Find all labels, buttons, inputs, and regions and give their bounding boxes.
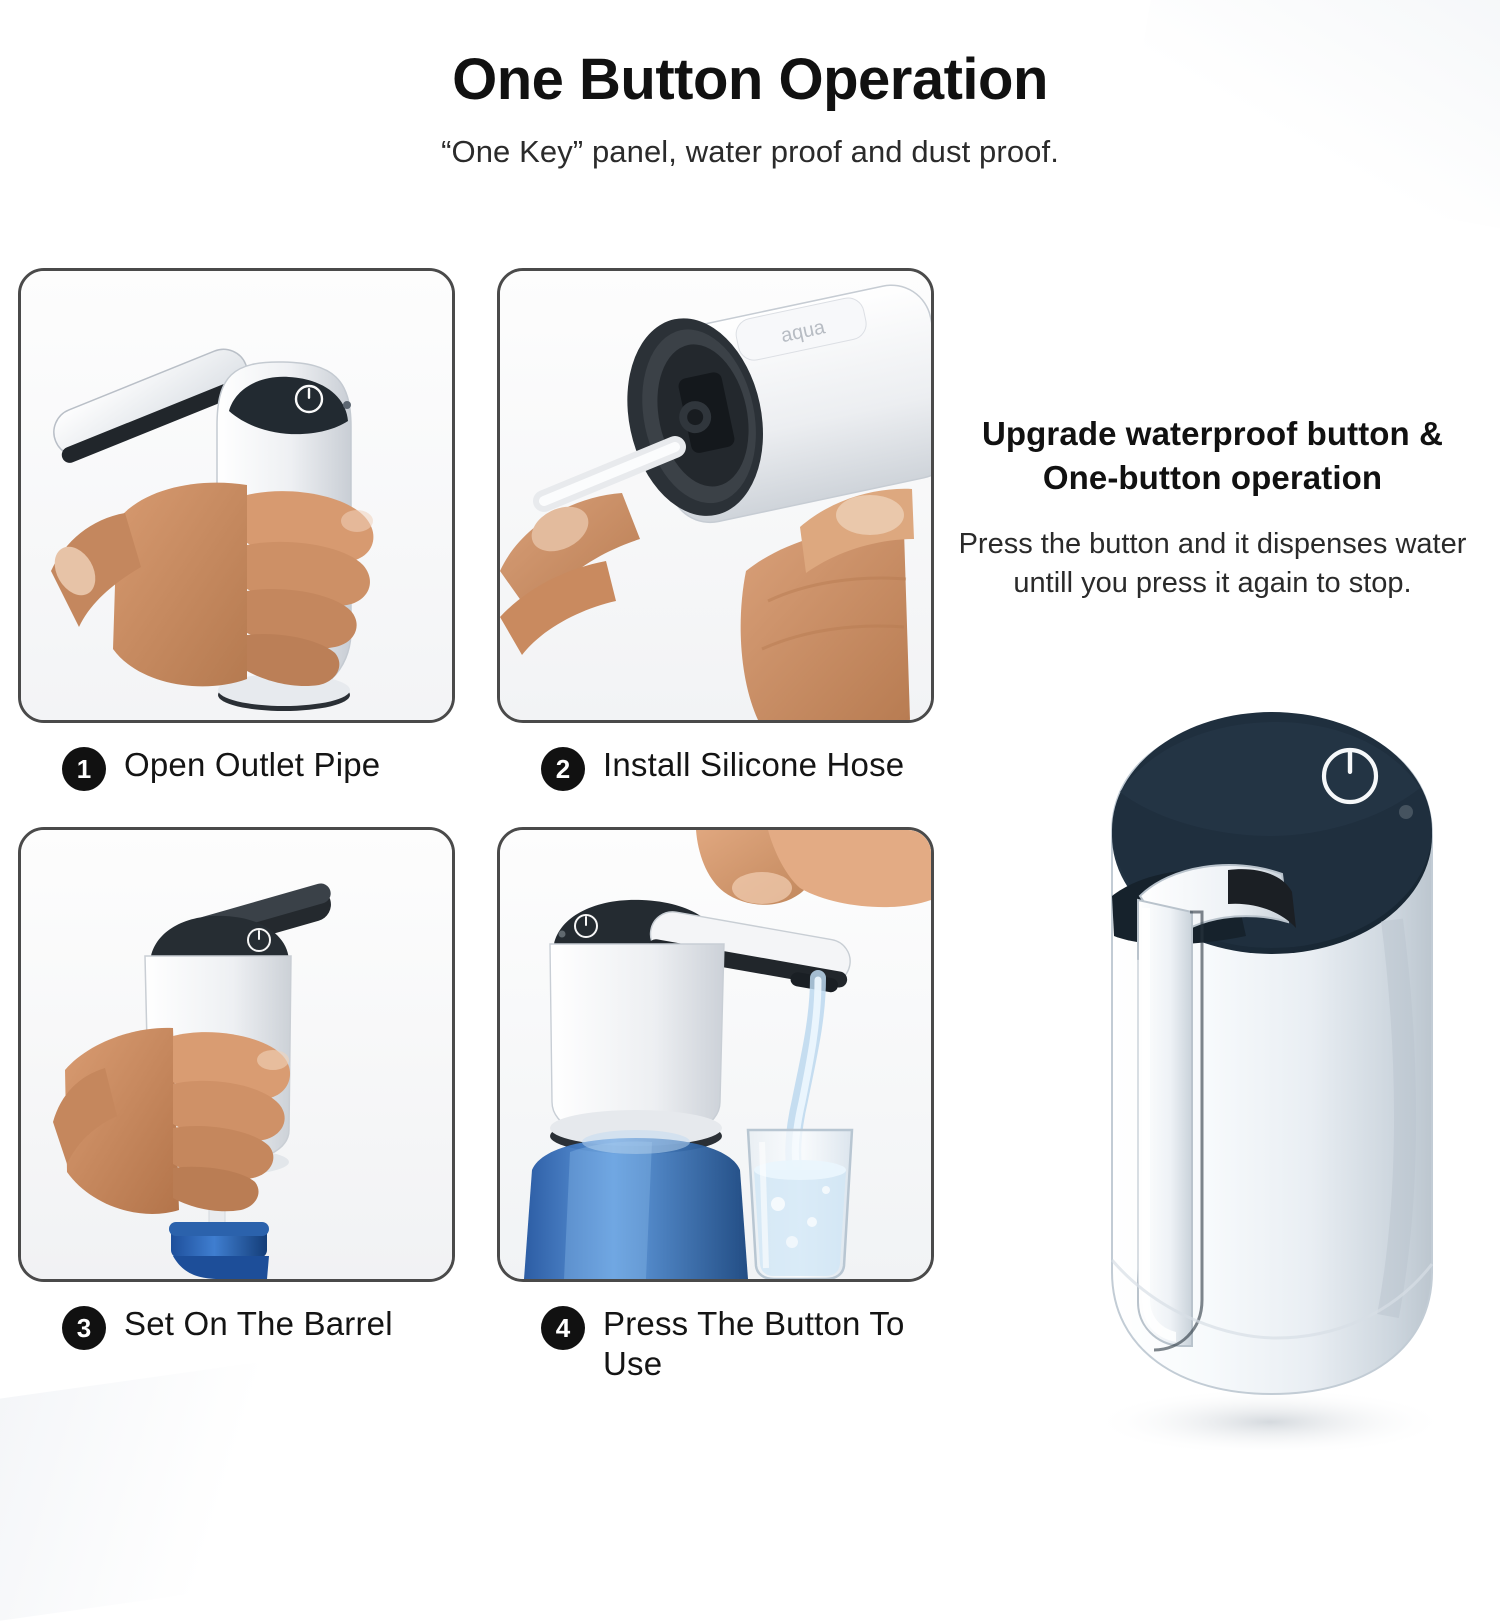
right-panel: Upgrade waterproof button & One-button o…: [940, 412, 1485, 603]
step-1-badge: 1: [62, 747, 106, 791]
step-1-photo: [18, 268, 455, 723]
step-4-badge: 4: [541, 1306, 585, 1350]
hero-product-image: [1020, 660, 1490, 1450]
steps-row-2: 3 Set On The Barrel: [18, 827, 938, 1385]
step-cell-3: 3 Set On The Barrel: [18, 827, 455, 1385]
step-cell-4: 4 Press The Button To Use: [497, 827, 934, 1385]
right-panel-body: Press the button and it dispenses water …: [940, 525, 1485, 603]
step-3-label: Set On The Barrel: [124, 1304, 393, 1344]
step-cell-2: aqua: [497, 268, 934, 791]
step-3-photo: [18, 827, 455, 1282]
steps-grid: 1 Open Outlet Pipe: [18, 268, 938, 1385]
step-cell-1: 1 Open Outlet Pipe: [18, 268, 455, 791]
step-3-caption: 3 Set On The Barrel: [18, 1304, 455, 1350]
step-4-photo: [497, 827, 934, 1282]
background-streak-bottom-left: [0, 1356, 334, 1624]
step-2-photo: aqua: [497, 268, 934, 723]
right-panel-heading: Upgrade waterproof button & One-button o…: [940, 412, 1485, 499]
step-1-label: Open Outlet Pipe: [124, 745, 380, 785]
infographic-page: One Button Operation “One Key” panel, wa…: [0, 0, 1500, 1500]
step-2-label: Install Silicone Hose: [603, 745, 904, 785]
page-subtitle: “One Key” panel, water proof and dust pr…: [0, 134, 1500, 170]
step-1-caption: 1 Open Outlet Pipe: [18, 745, 455, 791]
steps-row-1: 1 Open Outlet Pipe: [18, 268, 938, 791]
page-title: One Button Operation: [0, 48, 1500, 112]
step-2-badge: 2: [541, 747, 585, 791]
step-4-label: Press The Button To Use: [603, 1304, 934, 1385]
step-3-badge: 3: [62, 1306, 106, 1350]
step-2-caption: 2 Install Silicone Hose: [497, 745, 934, 791]
step-4-caption: 4 Press The Button To Use: [497, 1304, 934, 1385]
header: One Button Operation “One Key” panel, wa…: [0, 48, 1500, 170]
